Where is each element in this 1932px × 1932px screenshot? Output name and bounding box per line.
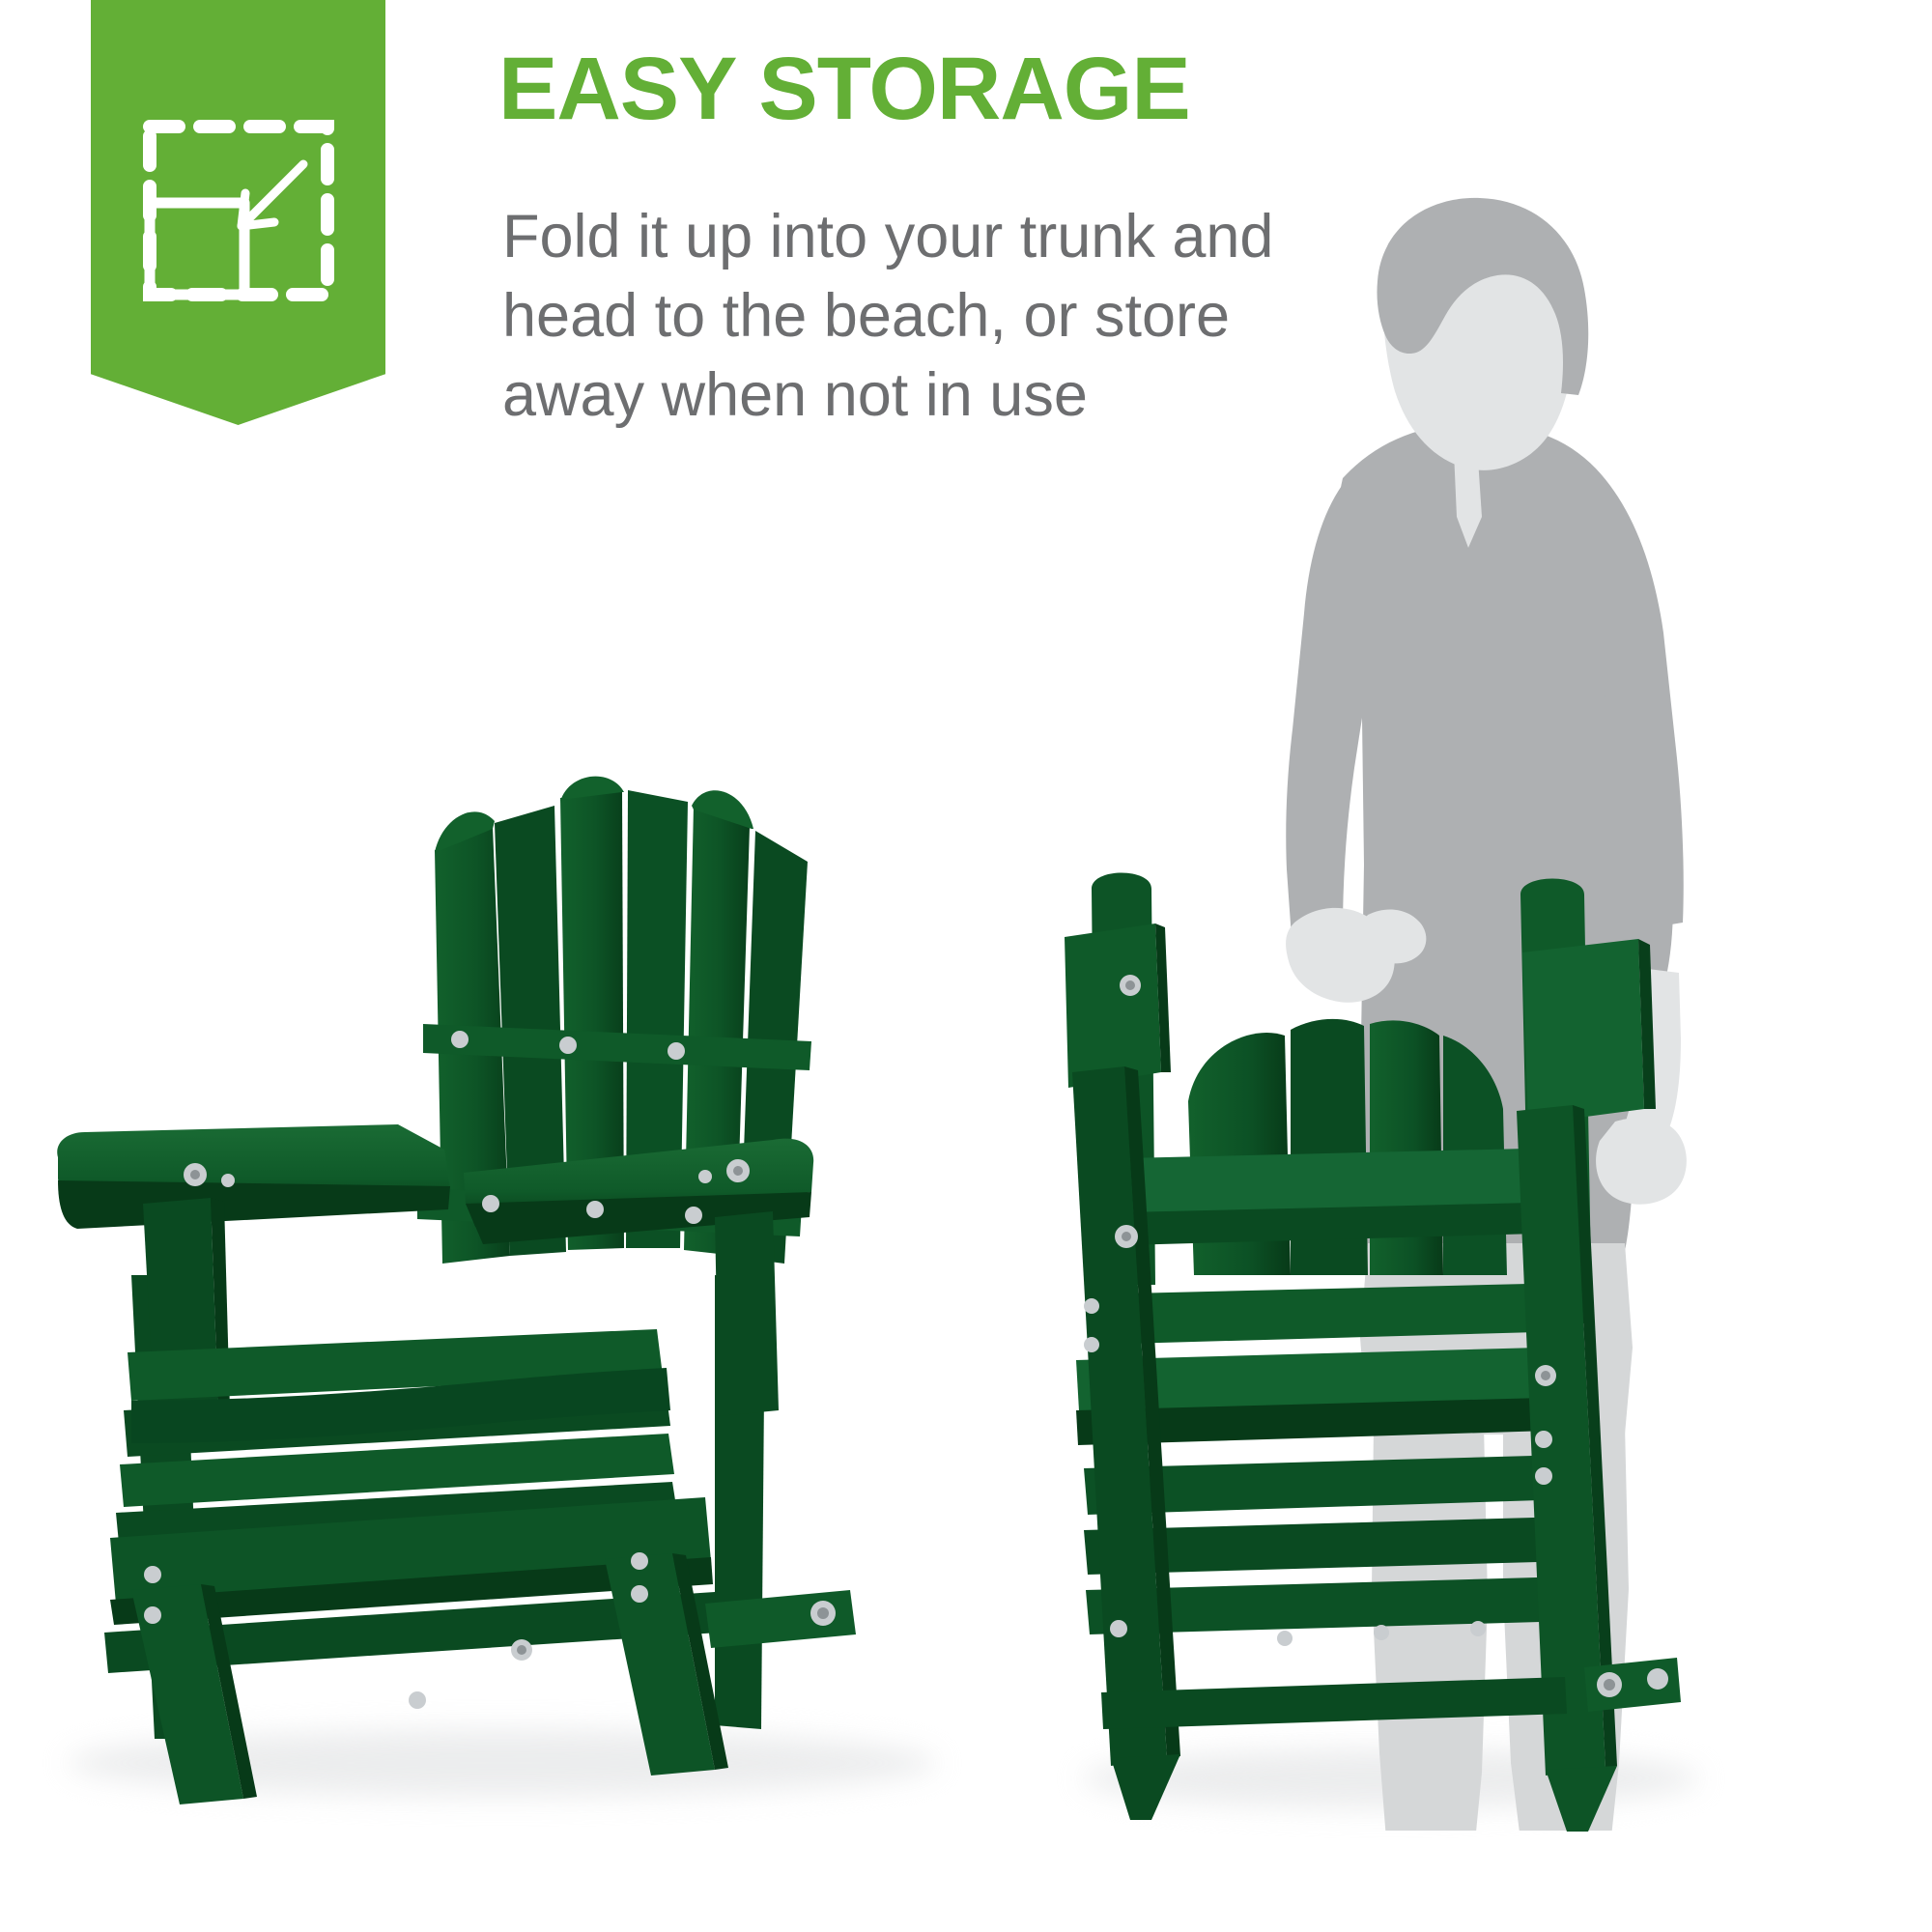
page-title: EASY STORAGE [498,43,1190,136]
shrink-to-fit-icon [137,114,340,307]
description-line-2: head to the beach, or store [502,277,1459,356]
adirondack-chair-unfolded [39,734,1005,1806]
description-line-3: away when not in use [502,356,1459,436]
feature-description: Fold it up into your trunk and head to t… [502,198,1459,436]
adirondack-chair-folded [1063,869,1681,1835]
feature-banner-ribbon [91,0,385,425]
product-feature-canvas: EASY STORAGE Fold it up into your trunk … [0,0,1932,1932]
description-line-1: Fold it up into your trunk and [502,198,1459,277]
